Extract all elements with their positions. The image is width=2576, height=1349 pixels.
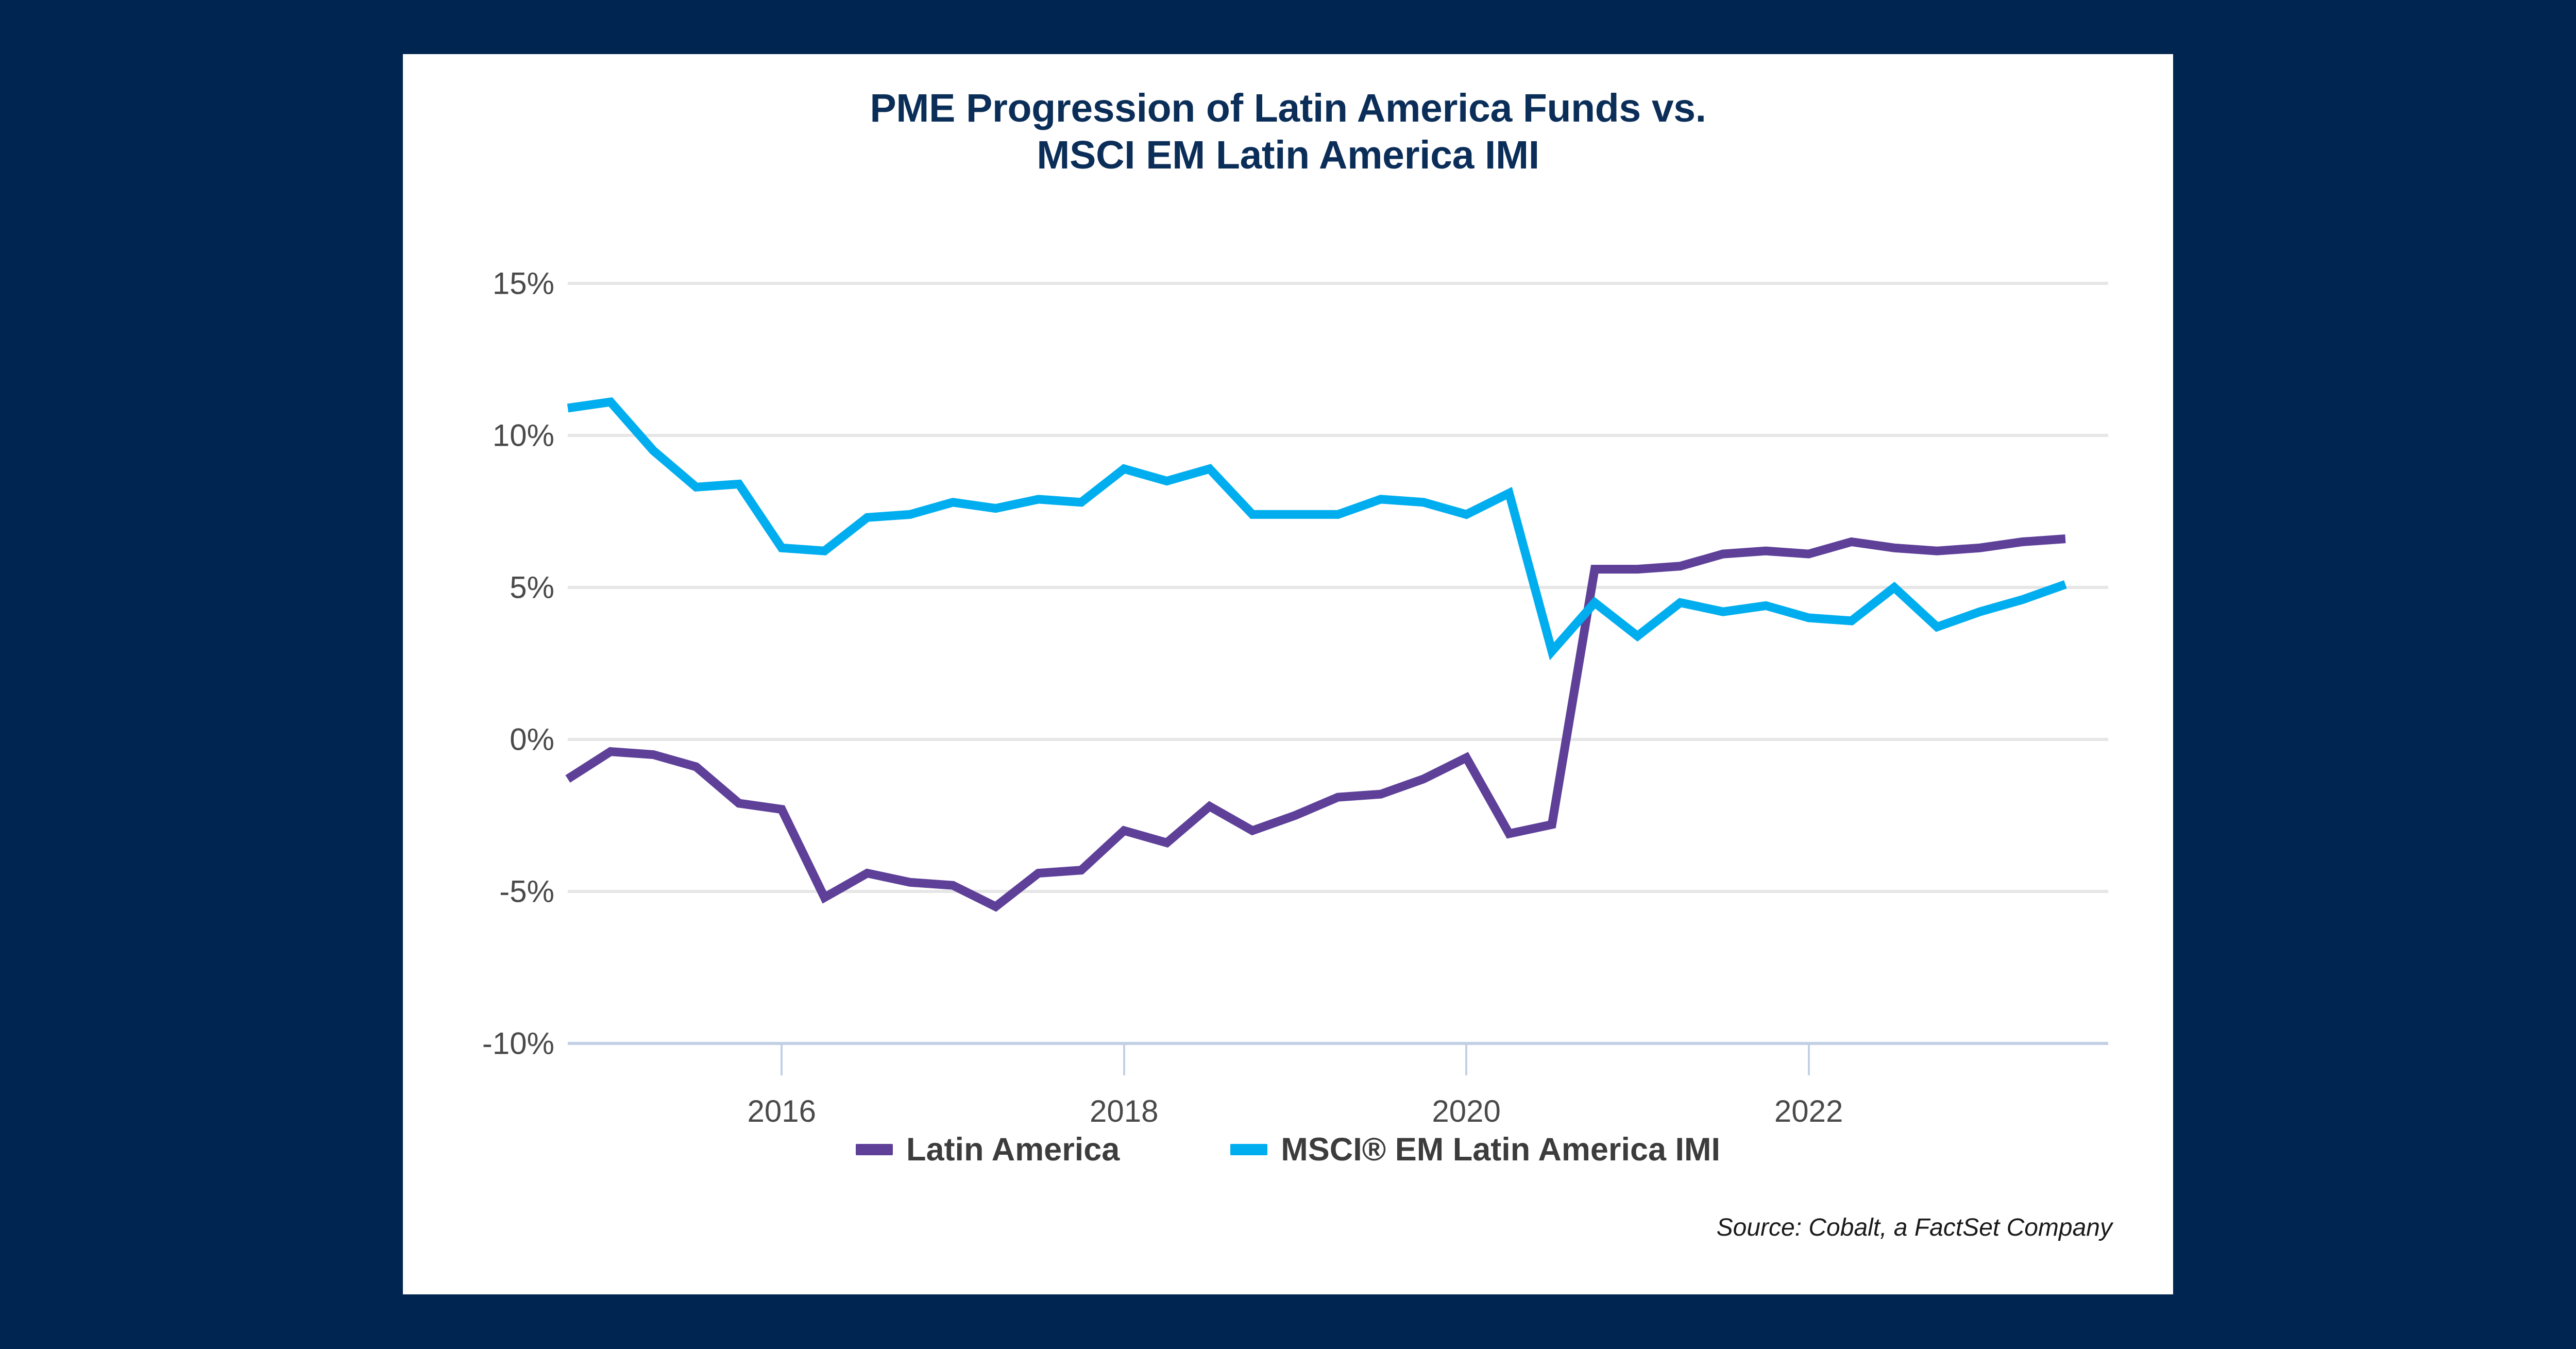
x-tick-label-2022: 2022	[1774, 1093, 1843, 1129]
page-title: PME Progression of Latin America Funds v…	[403, 85, 2173, 179]
legend-swatch-msci	[1230, 1144, 1267, 1155]
y-tick-label-15: 15%	[400, 266, 554, 301]
chart-legend: Latin AmericaMSCI® EM Latin America IMI	[403, 1131, 2173, 1168]
legend-item-msci-em-latin-america-imi[interactable]: MSCI® EM Latin America IMI	[1230, 1131, 1720, 1168]
y-tick-label-10: 10%	[400, 418, 554, 453]
legend-label: Latin America	[906, 1131, 1120, 1168]
y-tick-label-neg5: -5%	[400, 874, 554, 909]
line-msci-em-latin-america-imi	[568, 402, 2065, 651]
source-note: Source: Cobalt, a FactSet Company	[1717, 1213, 2112, 1242]
x-tick-2018	[1123, 1043, 1125, 1075]
line-latin-america	[568, 539, 2065, 907]
chart-title-line-2: MSCI EM Latin America IMI	[403, 132, 2173, 179]
y-tick-label-0: 0%	[400, 722, 554, 757]
x-tick-label-2020: 2020	[1432, 1093, 1500, 1129]
series-lines	[568, 283, 2108, 1043]
plot-area: 15%10%5%0%-5%-10% 2016201820202022	[568, 283, 2108, 1043]
chart-title-line-1: PME Progression of Latin America Funds v…	[870, 86, 1706, 130]
legend-label: MSCI® EM Latin America IMI	[1281, 1131, 1720, 1168]
chart-card: PME Progression of Latin America Funds v…	[403, 54, 2173, 1294]
legend-item-latin-america[interactable]: Latin America	[856, 1131, 1120, 1168]
x-tick-2016	[781, 1043, 783, 1075]
slide-canvas: PME Progression of Latin America Funds v…	[0, 0, 2576, 1349]
x-tick-label-2018: 2018	[1090, 1093, 1158, 1129]
y-tick-label-5: 5%	[400, 570, 554, 605]
legend-swatch-latin-america	[856, 1144, 893, 1155]
x-tick-label-2016: 2016	[748, 1093, 816, 1129]
x-tick-2020	[1465, 1043, 1467, 1075]
x-tick-2022	[1808, 1043, 1810, 1075]
y-tick-label-neg10: -10%	[400, 1026, 554, 1061]
